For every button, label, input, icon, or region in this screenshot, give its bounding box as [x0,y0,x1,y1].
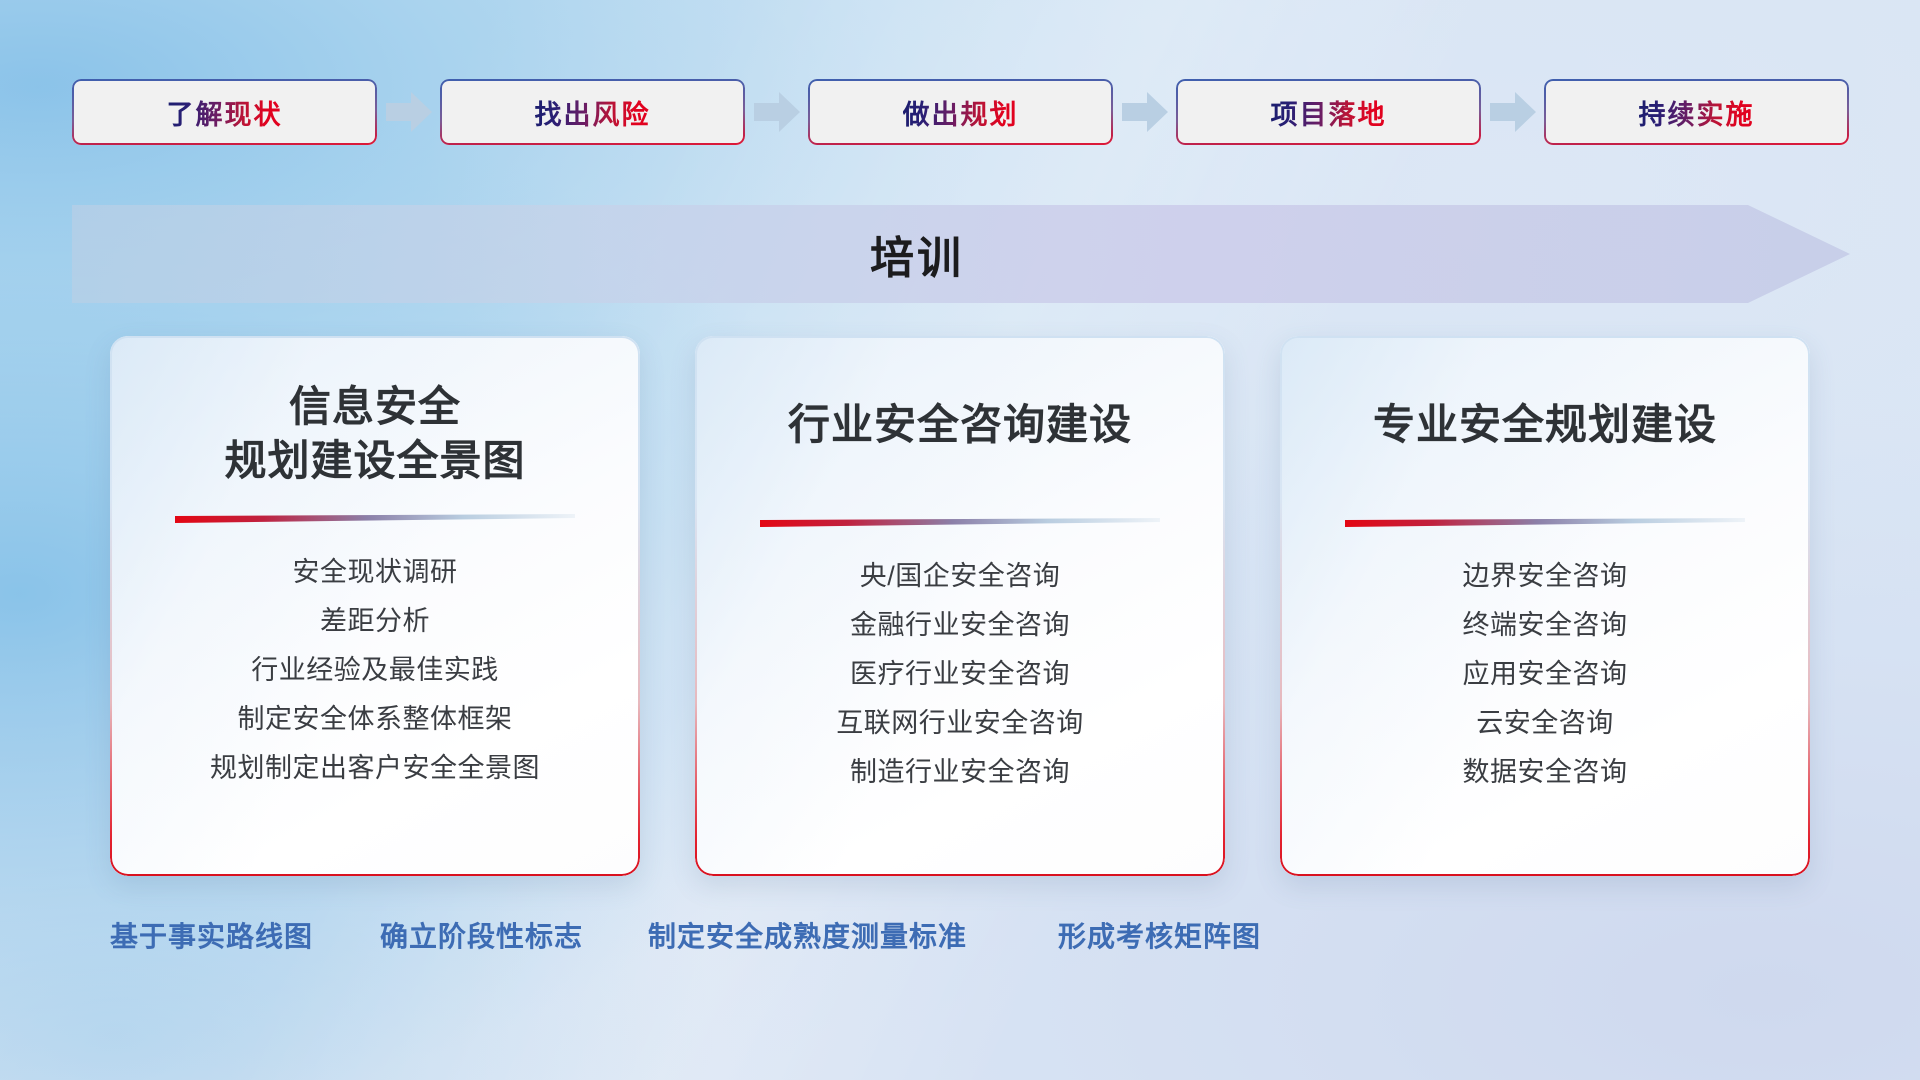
list-item: 制定安全体系整体框架 [238,699,513,740]
card-divider [175,514,575,524]
footer-label: 确立阶段性标志 [380,915,583,955]
list-item: 边界安全咨询 [1463,556,1628,597]
step-label: 项目落地 [1271,93,1387,132]
cards-row: 信息安全 规划建设全景图 安全现状调研 [110,336,1810,876]
card-title: 专业安全规划建设 [1373,398,1717,452]
footer-label: 制定安全成熟度测量标准 [648,915,967,955]
card-professional-security-planning[interactable]: 专业安全规划建设 边界安全咨询 [1280,336,1810,876]
list-item: 差距分析 [320,601,430,642]
list-item: 云安全咨询 [1476,703,1614,744]
step-box-2[interactable]: 找出风险 [440,79,745,145]
card-title: 信息安全 规划建设全景图 [224,380,525,488]
arrow-right-icon [377,88,440,136]
footer-label: 基于事实路线图 [110,915,313,955]
list-item: 规划制定出客户安全全景图 [210,748,540,789]
banner-title: 培训 [72,205,1762,303]
footer-labels: 基于事实路线图 确立阶段性标志 制定安全成熟度测量标准 形成考核矩阵图 [0,915,1920,965]
training-banner: 培训 [72,205,1850,303]
card-list: 安全现状调研 差距分析 行业经验及最佳实践 制定安全体系整体框架 规划制定出客户… [210,552,540,789]
list-item: 制造行业安全咨询 [850,752,1070,793]
card-list: 央/国企安全咨询 金融行业安全咨询 医疗行业安全咨询 互联网行业安全咨询 制造行… [836,556,1084,793]
card-title: 行业安全咨询建设 [788,398,1132,452]
list-item: 安全现状调研 [293,552,458,593]
arrow-right-icon [745,88,808,136]
arrow-right-icon [1113,88,1176,136]
step-box-3[interactable]: 做出规划 [808,79,1113,145]
step-box-4[interactable]: 项目落地 [1176,79,1481,145]
list-item: 央/国企安全咨询 [860,556,1061,597]
footer-label: 形成考核矩阵图 [1058,915,1261,955]
card-divider [1345,518,1745,528]
list-item: 医疗行业安全咨询 [850,654,1070,695]
step-label: 做出规划 [903,93,1019,132]
step-label: 持续实施 [1639,93,1755,132]
arrow-right-icon [1481,88,1544,136]
list-item: 行业经验及最佳实践 [251,650,499,691]
list-item: 终端安全咨询 [1463,605,1628,646]
process-steps-row: 了解现状 找出风险 做出规划 项目落地 持续实施 [72,78,1850,146]
step-box-1[interactable]: 了解现状 [72,79,377,145]
card-information-security-blueprint[interactable]: 信息安全 规划建设全景图 安全现状调研 [110,336,640,876]
card-divider [760,518,1160,528]
list-item: 应用安全咨询 [1463,654,1628,695]
card-industry-security-consulting[interactable]: 行业安全咨询建设 央/国企安全咨询 [695,336,1225,876]
step-label: 找出风险 [535,93,651,132]
list-item: 数据安全咨询 [1463,752,1628,793]
list-item: 金融行业安全咨询 [850,605,1070,646]
step-box-5[interactable]: 持续实施 [1544,79,1849,145]
list-item: 互联网行业安全咨询 [836,703,1084,744]
step-label: 了解现状 [167,93,283,132]
card-list: 边界安全咨询 终端安全咨询 应用安全咨询 云安全咨询 数据安全咨询 [1463,556,1628,793]
